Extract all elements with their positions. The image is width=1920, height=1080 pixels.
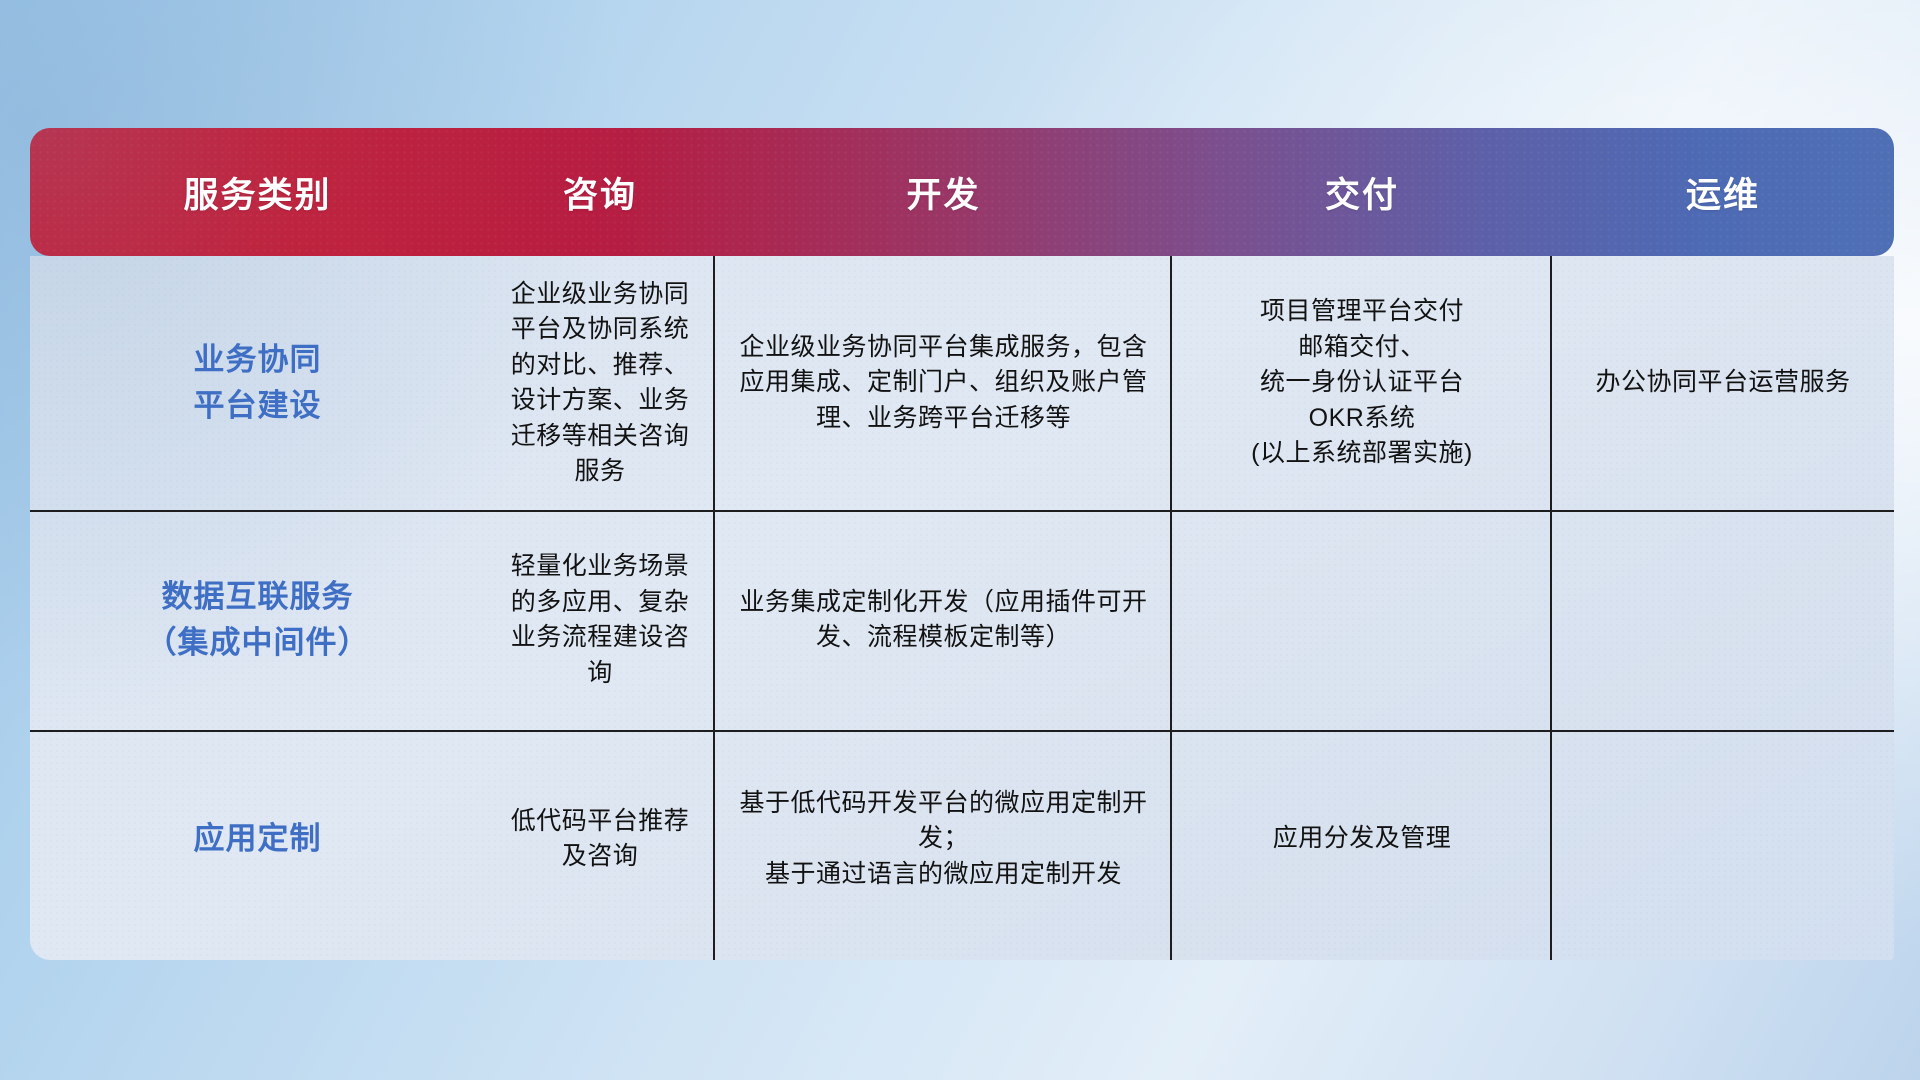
cell-delivery (1172, 510, 1552, 730)
category-line: 业务协同 (194, 337, 322, 384)
cell-text: 低代码平台推荐及咨询 (499, 804, 701, 875)
cell-delivery: 项目管理平台交付 邮箱交付、 统一身份认证平台 OKR系统 (以上系统部署实施) (1172, 256, 1552, 510)
column-header-operations: 运维 (1552, 128, 1894, 256)
footer-cell-operations (1552, 948, 1894, 960)
cell-consulting: 企业级业务协同平台及协同系统的对比、推荐、设计方案、业务迁移等相关咨询服务 (485, 256, 715, 510)
cell-text-line: OKR系统 (1251, 401, 1473, 437)
cell-development: 业务集成定制化开发（应用插件可开发、流程模板定制等） (715, 510, 1172, 730)
column-header-development: 开发 (715, 128, 1172, 256)
cell-development: 基于低代码开发平台的微应用定制开发； 基于通过语言的微应用定制开发 (715, 730, 1172, 948)
table-footer-row (30, 948, 1894, 960)
column-header-consulting: 咨询 (485, 128, 715, 256)
cell-operations (1552, 510, 1894, 730)
cell-text: 应用分发及管理 (1273, 821, 1452, 857)
column-header-category: 服务类别 (30, 128, 485, 256)
cell-text: 办公协同平台运营服务 (1595, 365, 1850, 401)
slide-canvas: 服务类别 咨询 开发 交付 运维 业务协同 平台建设 企业级业务协同平台及协同系… (0, 0, 1920, 1080)
cell-text: 企业级业务协同平台集成服务，包含应用集成、定制门户、组织及账户管理、业务跨平台迁… (729, 330, 1158, 437)
category-line: 平台建设 (194, 383, 322, 430)
cell-text: 项目管理平台交付 邮箱交付、 统一身份认证平台 OKR系统 (以上系统部署实施) (1251, 294, 1473, 472)
cell-text-line: 统一身份认证平台 (1251, 365, 1473, 401)
cell-text-line: 邮箱交付、 (1251, 330, 1473, 366)
cell-text: 基于低代码开发平台的微应用定制开发； 基于通过语言的微应用定制开发 (729, 786, 1158, 893)
table-header-row: 服务类别 咨询 开发 交付 运维 (30, 128, 1894, 256)
service-matrix-table: 服务类别 咨询 开发 交付 运维 业务协同 平台建设 企业级业务协同平台及协同系… (30, 128, 1894, 960)
table-body: 业务协同 平台建设 企业级业务协同平台及协同系统的对比、推荐、设计方案、业务迁移… (30, 256, 1894, 960)
cell-consulting: 低代码平台推荐及咨询 (485, 730, 715, 948)
cell-text: 企业级业务协同平台及协同系统的对比、推荐、设计方案、业务迁移等相关咨询服务 (499, 277, 701, 490)
cell-text-line: (以上系统部署实施) (1251, 436, 1473, 472)
cell-text: 轻量化业务场景的多应用、复杂业务流程建设咨询 (499, 549, 701, 691)
cell-category: 业务协同 平台建设 (30, 256, 485, 510)
category-label: 业务协同 平台建设 (194, 337, 322, 430)
footer-cell-consulting (485, 948, 715, 960)
category-label: 数据互联服务 （集成中间件） (146, 574, 370, 667)
cell-operations: 办公协同平台运营服务 (1552, 256, 1894, 510)
cell-text: 业务集成定制化开发（应用插件可开发、流程模板定制等） (729, 585, 1158, 656)
category-line: （集成中间件） (146, 620, 370, 667)
column-header-delivery: 交付 (1172, 128, 1552, 256)
category-label: 应用定制 (194, 816, 322, 863)
cell-consulting: 轻量化业务场景的多应用、复杂业务流程建设咨询 (485, 510, 715, 730)
category-line: 数据互联服务 (146, 574, 370, 621)
table-row: 应用定制 低代码平台推荐及咨询 基于低代码开发平台的微应用定制开发； 基于通过语… (30, 730, 1894, 948)
category-line: 应用定制 (194, 816, 322, 863)
table-row: 业务协同 平台建设 企业级业务协同平台及协同系统的对比、推荐、设计方案、业务迁移… (30, 256, 1894, 510)
cell-text-line: 基于通过语言的微应用定制开发 (729, 857, 1158, 893)
cell-text-line: 项目管理平台交付 (1251, 294, 1473, 330)
footer-cell-category (30, 948, 485, 960)
table-footer-strip (30, 948, 1894, 960)
footer-cell-delivery (1172, 948, 1552, 960)
cell-category: 数据互联服务 （集成中间件） (30, 510, 485, 730)
cell-text-line: 基于低代码开发平台的微应用定制开发； (729, 786, 1158, 857)
footer-cell-development (715, 948, 1172, 960)
cell-operations (1552, 730, 1894, 948)
cell-delivery: 应用分发及管理 (1172, 730, 1552, 948)
cell-category: 应用定制 (30, 730, 485, 948)
cell-development: 企业级业务协同平台集成服务，包含应用集成、定制门户、组织及账户管理、业务跨平台迁… (715, 256, 1172, 510)
table-row: 数据互联服务 （集成中间件） 轻量化业务场景的多应用、复杂业务流程建设咨询 业务… (30, 510, 1894, 730)
